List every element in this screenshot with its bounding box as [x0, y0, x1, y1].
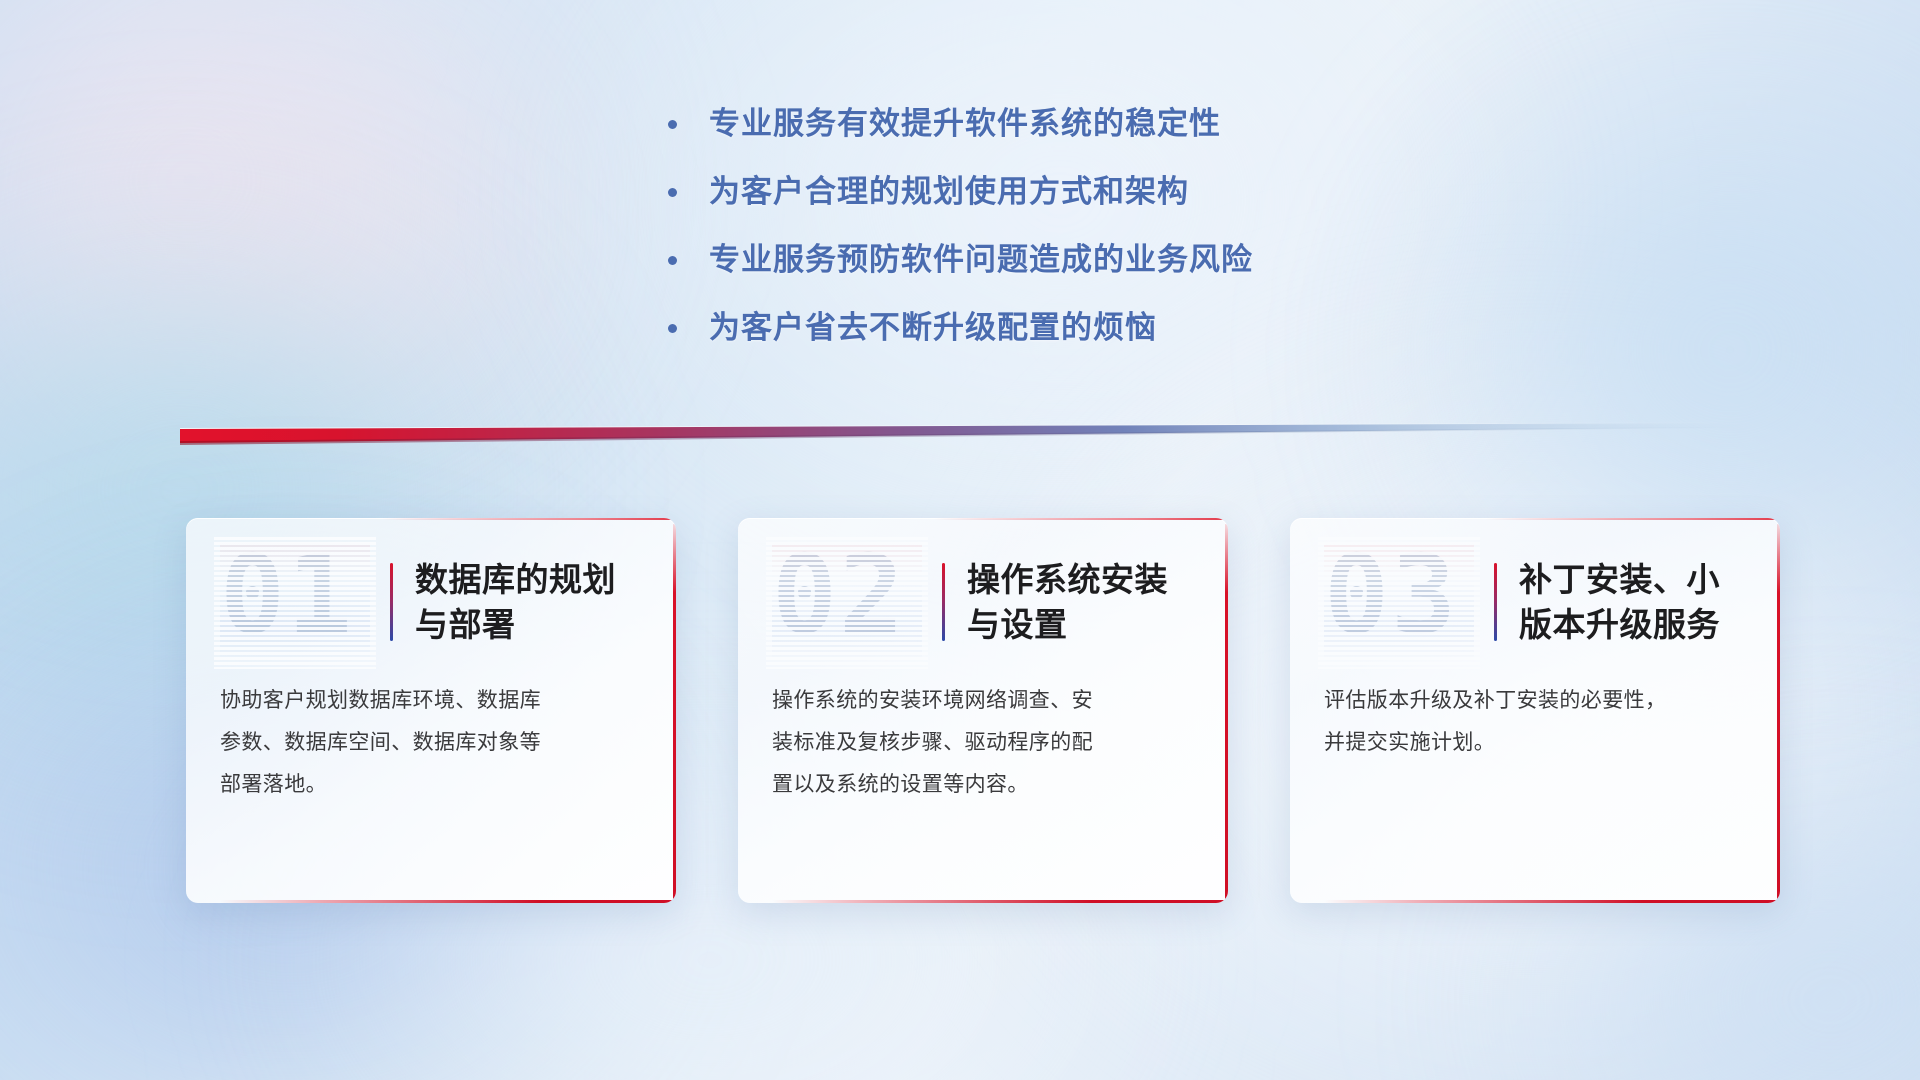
bullet-text: 为客户合理的规划使用方式和架构 — [709, 172, 1488, 212]
card-title-accent-bar — [1494, 563, 1497, 641]
service-card[interactable]: 01 数据库的规划 与部署 协助客户规划数据库环境、数据库 参数、数据库空间、数… — [186, 518, 676, 903]
bullet-text: 专业服务预防软件问题造成的业务风险 — [709, 240, 1488, 280]
bullet-dot-icon — [668, 256, 677, 265]
card-number-watermark: 01 — [220, 543, 370, 661]
card-header: 02 操作系统安装 与设置 — [738, 518, 1228, 654]
card-bottom-accent — [1324, 900, 1780, 903]
card-number-watermark: 02 — [772, 543, 922, 661]
card-title: 补丁安装、小 版本升级服务 — [1519, 557, 1754, 647]
bullet-dot-icon — [668, 120, 677, 129]
bullet-item: 专业服务有效提升软件系统的稳定性 — [668, 104, 1488, 144]
bullet-text: 为客户省去不断升级配置的烦恼 — [709, 308, 1488, 348]
service-card[interactable]: 02 操作系统安装 与设置 操作系统的安装环境网络调查、安 装标准及复核步骤、驱… — [738, 518, 1228, 903]
card-number-watermark: 03 — [1324, 543, 1474, 661]
card-title-accent-bar — [942, 563, 945, 641]
bullet-text: 专业服务有效提升软件系统的稳定性 — [709, 104, 1488, 144]
card-description: 操作系统的安装环境网络调查、安 装标准及复核步骤、驱动程序的配 置以及系统的设置… — [738, 654, 1228, 806]
card-bottom-accent — [772, 900, 1228, 903]
section-divider — [180, 418, 1752, 452]
card-header: 01 数据库的规划 与部署 — [186, 518, 676, 654]
service-card[interactable]: 03 补丁安装、小 版本升级服务 评估版本升级及补丁安装的必要性， 并提交实施计… — [1290, 518, 1780, 903]
bullet-item: 为客户省去不断升级配置的烦恼 — [668, 308, 1488, 348]
bullet-dot-icon — [668, 188, 677, 197]
card-title: 操作系统安装 与设置 — [967, 557, 1202, 647]
bullet-item: 为客户合理的规划使用方式和架构 — [668, 172, 1488, 212]
card-bottom-accent — [220, 900, 676, 903]
bullet-item: 专业服务预防软件问题造成的业务风险 — [668, 240, 1488, 280]
card-number-text: 03 — [1324, 537, 1458, 655]
bullet-dot-icon — [668, 324, 677, 333]
service-cards-row: 01 数据库的规划 与部署 协助客户规划数据库环境、数据库 参数、数据库空间、数… — [186, 518, 1780, 903]
benefits-bullet-list: 专业服务有效提升软件系统的稳定性 为客户合理的规划使用方式和架构 专业服务预防软… — [668, 104, 1488, 376]
card-description: 评估版本升级及补丁安装的必要性， 并提交实施计划。 — [1290, 654, 1780, 764]
card-number-text: 01 — [220, 537, 354, 655]
card-number-text: 02 — [772, 537, 906, 655]
card-title-accent-bar — [390, 563, 393, 641]
card-header: 03 补丁安装、小 版本升级服务 — [1290, 518, 1780, 654]
card-description: 协助客户规划数据库环境、数据库 参数、数据库空间、数据库对象等 部署落地。 — [186, 654, 676, 806]
card-title: 数据库的规划 与部署 — [415, 557, 650, 647]
